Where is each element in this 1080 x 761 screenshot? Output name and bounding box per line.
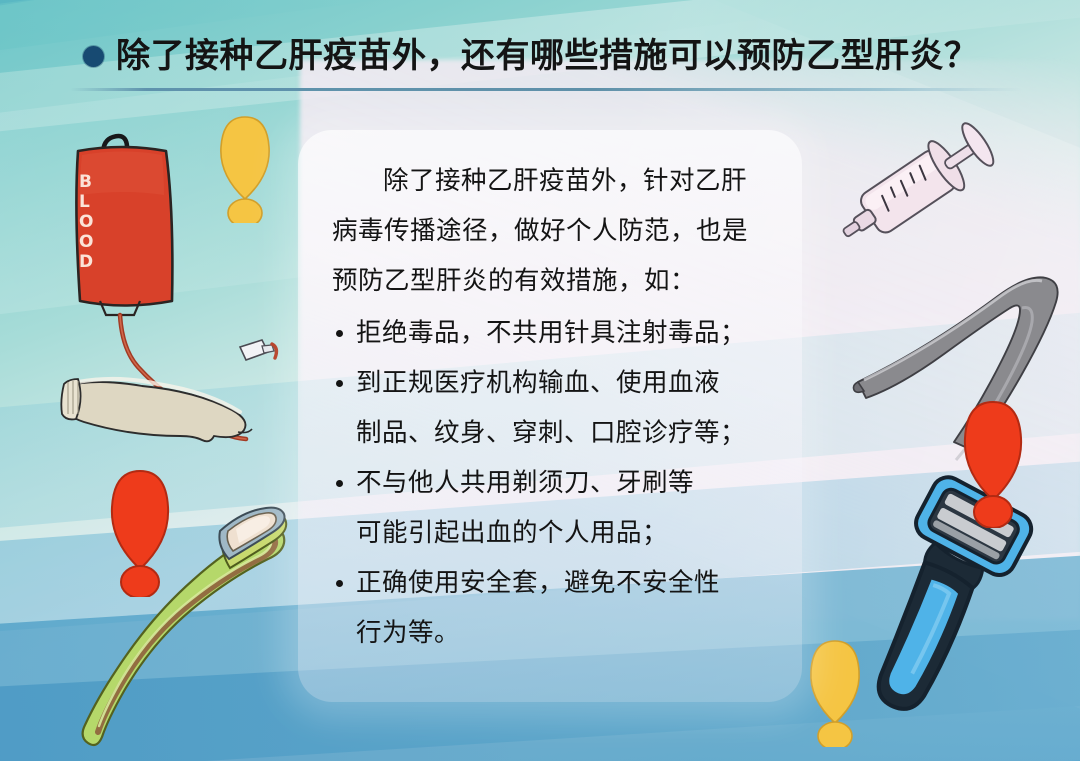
poster-canvas: 除了接种乙肝疫苗外，还有哪些措施可以预防乙型肝炎？ B L O O D <box>0 0 1080 761</box>
list-item-line: 拒绝毒品，不共用针具注射毒品； <box>356 308 776 358</box>
list-item-line: 制品、纹身、穿刺、口腔诊疗等； <box>356 408 776 458</box>
svg-text:O: O <box>79 212 93 232</box>
list-item-line: 可能引起出血的个人用品； <box>356 508 776 558</box>
list-item-line: 行为等。 <box>356 608 776 658</box>
list-item: 到正规医疗机构输血、使用血液 制品、纹身、穿刺、口腔诊疗等； <box>330 358 776 458</box>
header-divider <box>70 88 1022 91</box>
exclamation-mark-yellow-bottom-right <box>800 637 870 752</box>
svg-text:D: D <box>79 252 93 272</box>
list-item-line: 不与他人共用剃须刀、牙刷等 <box>356 458 776 508</box>
exclamation-mark-red-right <box>953 398 1033 533</box>
svg-text:L: L <box>79 192 90 212</box>
page-title: 除了接种乙肝疫苗外，还有哪些措施可以预防乙型肝炎？ <box>116 31 1056 81</box>
exclamation-mark-yellow-top-left <box>210 113 280 228</box>
syringe-icon <box>832 112 1012 262</box>
list-item-line: 正确使用安全套，避免不安全性 <box>356 558 776 608</box>
measures-list: 拒绝毒品，不共用针具注射毒品； 到正规医疗机构输血、使用血液 制品、纹身、穿刺、… <box>322 308 778 658</box>
header: 除了接种乙肝疫苗外，还有哪些措施可以预防乙型肝炎？ <box>0 22 1080 92</box>
svg-text:O: O <box>79 232 93 252</box>
filled-circle-icon <box>83 46 104 67</box>
condom-icon <box>52 368 272 458</box>
content-card: 除了接种乙肝疫苗外，针对乙肝病毒传播途径，做好个人防范，也是预防乙型肝炎的有效措… <box>298 130 802 702</box>
list-item: 拒绝毒品，不共用针具注射毒品； <box>330 308 776 358</box>
list-item: 不与他人共用剃须刀、牙刷等 可能引起出血的个人用品； <box>330 458 776 558</box>
content-body: 除了接种乙肝疫苗外，针对乙肝病毒传播途径，做好个人防范，也是预防乙型肝炎的有效措… <box>322 156 778 658</box>
svg-text:B: B <box>79 172 92 192</box>
intro-paragraph: 除了接种乙肝疫苗外，针对乙肝病毒传播途径，做好个人防范，也是预防乙型肝炎的有效措… <box>322 156 778 306</box>
list-item: 正确使用安全套，避免不安全性 行为等。 <box>330 558 776 658</box>
list-item-line: 到正规医疗机构输血、使用血液 <box>356 358 776 408</box>
exclamation-mark-red-left <box>100 467 180 602</box>
